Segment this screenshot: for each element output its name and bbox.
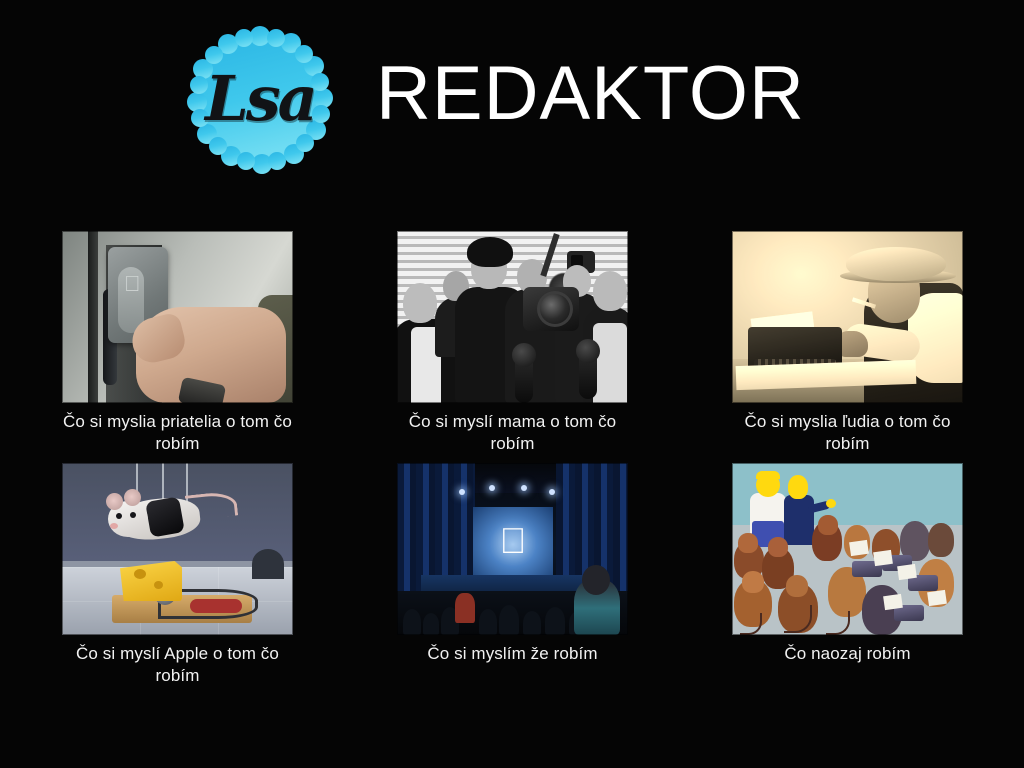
lsa-logo-badge: Lsa: [186, 24, 334, 176]
slide-canvas: Lsa REDAKTOR : [0, 0, 1024, 768]
meme-grid:  Čo si myslia priatelia o tom čo robím: [62, 231, 962, 687]
grid-cell:  Čo si myslím že robím: [397, 463, 628, 687]
apple-logo-icon: : [473, 507, 553, 575]
photo-caption: Čo si myslí Apple o tom čo robím: [62, 643, 293, 687]
photo-caption: Čo naozaj robím: [732, 643, 963, 665]
slide-header: Lsa REDAKTOR: [186, 22, 806, 178]
apple-logo-icon: : [124, 273, 141, 295]
photo-apple-keynote-stage: : [397, 463, 628, 635]
photo-caption: Čo si myslia ľudia o tom čo robím: [732, 411, 963, 455]
photo-spy-mouse-mousetrap: [62, 463, 293, 635]
grid-cell: Čo si myslí mama o tom čo robím: [397, 231, 628, 455]
grid-cell:  Čo si myslia priatelia o tom čo robím: [62, 231, 293, 455]
photo-caption: Čo si myslí mama o tom čo robím: [397, 411, 628, 455]
photo-simpsons-monkeys-typewriters: [732, 463, 963, 635]
grid-cell: Čo si myslí Apple o tom čo robím: [62, 463, 293, 687]
page-title: REDAKTOR: [376, 56, 805, 132]
logo-monogram: Lsa: [186, 22, 334, 174]
grid-cell: Čo si myslia ľudia o tom čo robím: [732, 231, 963, 455]
photo-vintage-reporter-typewriter: [732, 231, 963, 403]
photo-hand-holding-apple-keycard: : [62, 231, 293, 403]
photo-press-scrum-photographers: [397, 231, 628, 403]
photo-caption: Čo si myslím že robím: [397, 643, 628, 665]
photo-caption: Čo si myslia priatelia o tom čo robím: [62, 411, 293, 455]
grid-cell: Čo naozaj robím: [732, 463, 963, 687]
